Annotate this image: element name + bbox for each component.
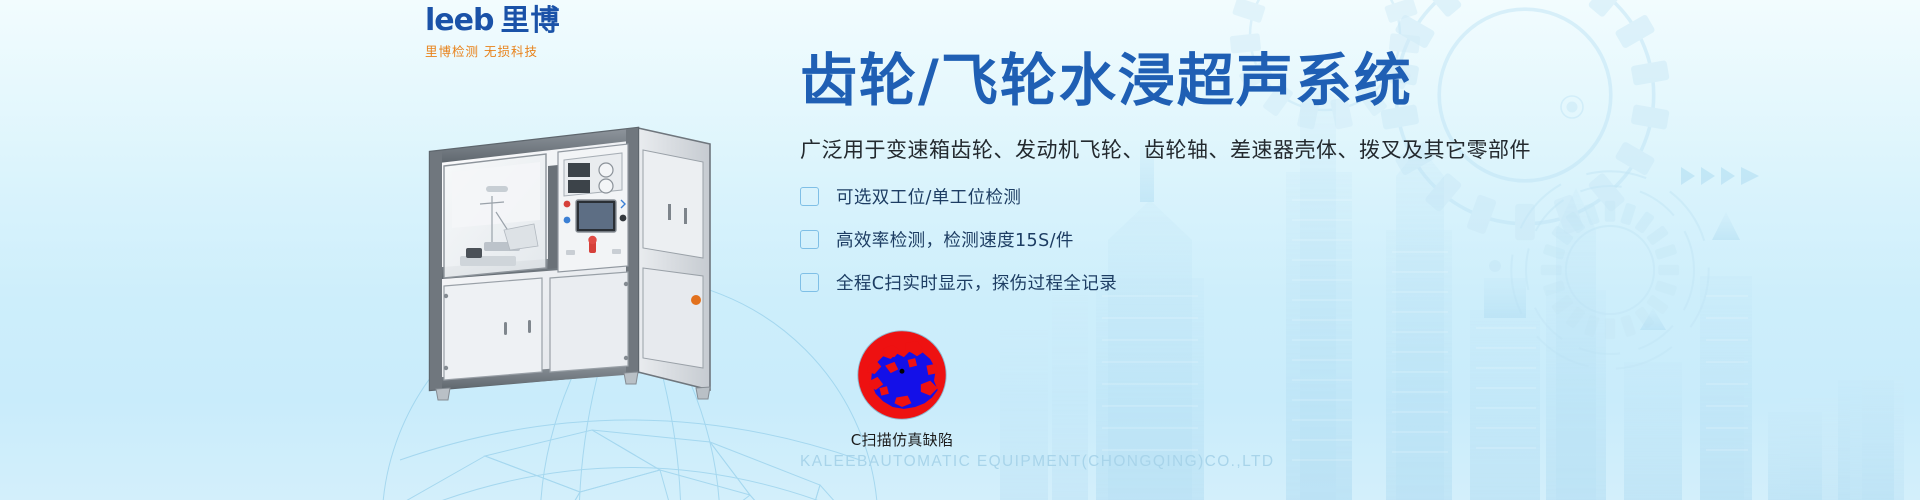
logo-wordmark-cn: 里博: [500, 6, 560, 35]
feature-item-2[interactable]: 高效率检测，检测速度15S/件: [800, 227, 1650, 252]
company-logo[interactable]: leeb 里博 里博检测 无损科技: [425, 6, 605, 60]
page-title: 齿轮/飞轮水浸超声系统: [800, 52, 1650, 112]
hero-content: 齿轮/飞轮水浸超声系统 广泛用于变速箱齿轮、发动机飞轮、齿轮轴、差速器壳体、拨叉…: [800, 52, 1650, 313]
feature-label: 可选双工位/单工位检测: [836, 184, 1021, 209]
feature-item-3[interactable]: 全程C扫实时显示，探伤过程全记录: [800, 270, 1650, 295]
checkbox-icon[interactable]: [800, 230, 819, 249]
chevron-arrows-icon: [1679, 163, 1775, 189]
cscan-sample: C扫描仿真缺陷: [827, 328, 977, 450]
cscan-defect-image: [855, 328, 949, 422]
machine-side-panel: [638, 128, 710, 390]
machine-control-panel: [558, 144, 628, 272]
machine-view-chamber: [444, 154, 546, 278]
checkbox-icon[interactable]: [800, 187, 819, 206]
company-watermark: KALEEBAUTOMATIC EQUIPMENT(CHONGQING)CO.,…: [800, 453, 1274, 471]
feature-label: 全程C扫实时显示，探伤过程全记录: [836, 270, 1117, 295]
cscan-caption: C扫描仿真缺陷: [827, 429, 977, 450]
page-subtitle: 广泛用于变速箱齿轮、发动机飞轮、齿轮轴、差速器壳体、拨叉及其它零部件: [800, 134, 1650, 164]
machine-lower-doors: [444, 272, 628, 380]
feature-label: 高效率检测，检测速度15S/件: [836, 227, 1074, 252]
feature-list: 可选双工位/单工位检测 高效率检测，检测速度15S/件 全程C扫实时显示，探伤过…: [800, 184, 1650, 295]
logo-wordmark-en: leeb: [425, 6, 493, 36]
logo-tagline: 里博检测 无损科技: [425, 41, 605, 60]
feature-item-1[interactable]: 可选双工位/单工位检测: [800, 184, 1650, 209]
promo-banner: leeb 里博 里博检测 无损科技: [0, 0, 1920, 500]
checkbox-icon[interactable]: [800, 273, 819, 292]
product-photo-ultrasonic-cabinet: [400, 100, 760, 410]
